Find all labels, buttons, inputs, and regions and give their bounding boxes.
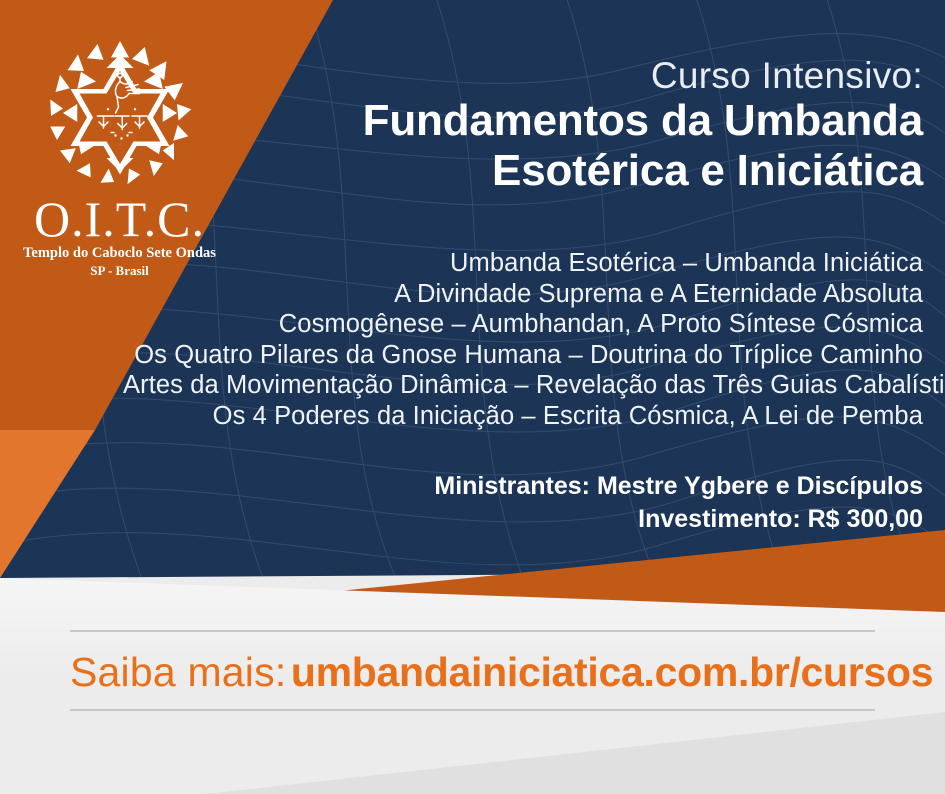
cta-block: Saiba mais: umbandainiciatica.com.br/cur… — [70, 630, 875, 711]
course-title-line-1: Fundamentos da Umbanda — [273, 96, 923, 146]
cta-text[interactable]: Saiba mais: umbandainiciatica.com.br/cur… — [70, 632, 875, 709]
instructors-label: Ministrantes: — [434, 472, 590, 500]
logo-initials: O.I.T.C. — [22, 194, 217, 244]
instructors-row: Ministrantes: Mestre Ygbere e Discípulos — [223, 470, 923, 503]
price-row: Investimento: R$ 300,00 — [223, 503, 923, 536]
topic-list: Umbanda Esotérica – Umbanda Iniciática A… — [123, 248, 923, 431]
six-pointed-star-emblem — [45, 38, 195, 188]
instructors-value: Mestre Ygbere e Discípulos — [597, 472, 923, 500]
price-label: Investimento: — [638, 505, 801, 533]
cta-url[interactable]: umbandainiciatica.com.br/cursos — [291, 649, 933, 695]
course-eyebrow: Curso Intensivo: — [273, 56, 923, 96]
headline-block: Curso Intensivo: Fundamentos da Umbanda … — [273, 56, 923, 196]
topic-item: A Divindade Suprema e A Eternidade Absol… — [123, 279, 923, 310]
topic-item: Artes da Movimentação Dinâmica – Revelaç… — [123, 370, 923, 401]
cta-prefix: Saiba mais: — [70, 649, 286, 695]
cta-rule-bottom — [70, 709, 875, 711]
course-details: Ministrantes: Mestre Ygbere e Discípulos… — [223, 470, 923, 536]
logo-block: O.I.T.C. Templo do Caboclo Sete Ondas SP… — [22, 38, 217, 278]
promotional-banner: O.I.T.C. Templo do Caboclo Sete Ondas SP… — [0, 0, 945, 794]
topic-item: Os 4 Poderes da Iniciação – Escrita Cósm… — [123, 401, 923, 432]
topic-item: Os Quatro Pilares da Gnose Humana – Dout… — [123, 340, 923, 371]
topic-item: Cosmogênese – Aumbhandan, A Proto Síntes… — [123, 309, 923, 340]
topic-item: Umbanda Esotérica – Umbanda Iniciática — [123, 248, 923, 279]
course-title-line-2: Esotérica e Iniciática — [273, 146, 923, 196]
price-value: R$ 300,00 — [808, 505, 923, 533]
